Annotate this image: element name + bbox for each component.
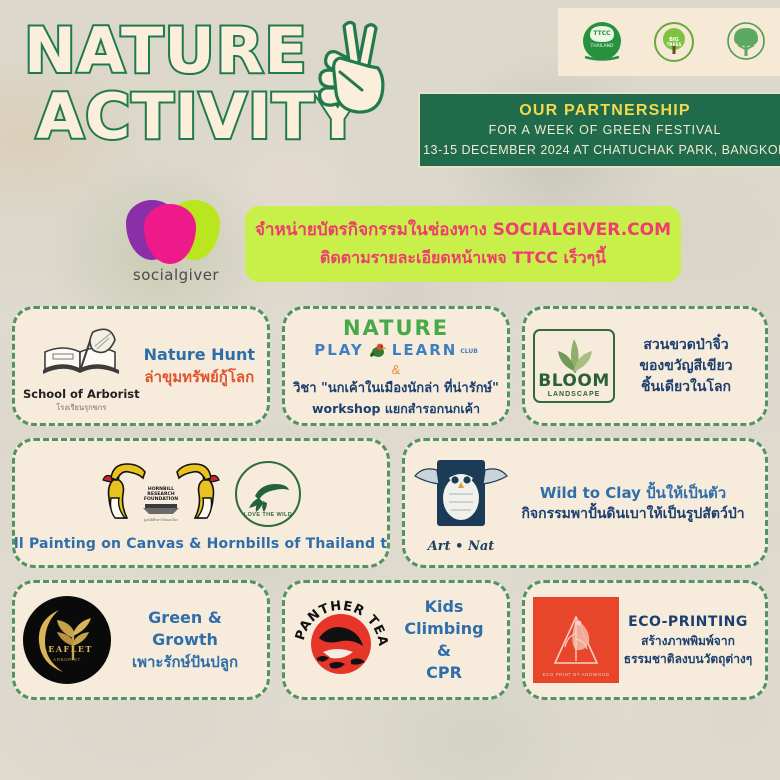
npl-brand-nature: NATURE bbox=[343, 317, 449, 340]
svg-text:TREES: TREES bbox=[667, 42, 682, 47]
partner-logo-strip: TTCC THAILAND BIG TREES bbox=[558, 8, 780, 76]
hornbill-silhouette-icon bbox=[243, 474, 293, 514]
activity-card-bloom-landscape[interactable]: BLOOM LANDSCAPE สวนขวดป่าจิ๋ว ของขวัญสีเ… bbox=[522, 306, 768, 426]
bloom-line-3: ชิ้นเดียวในโลก bbox=[617, 377, 755, 398]
card-row-2: HORNBILL RESEARCH FOUNDATION มูลนิธิศึกษ… bbox=[12, 438, 768, 568]
bloom-wordmark: BLOOM bbox=[538, 371, 610, 391]
socialgiver-wordmark: socialgiver bbox=[112, 266, 240, 284]
green-growth-text: Green & Growth เพาะรักษ์ปันปลูก bbox=[111, 607, 259, 673]
big-trees-logo: BIG TREES bbox=[649, 17, 699, 67]
svg-text:THAILAND: THAILAND bbox=[589, 43, 614, 49]
kids-climbing-line-2: & bbox=[391, 640, 497, 662]
love-the-wild-circle-logo: LOVE THE WILD bbox=[235, 461, 301, 527]
card-row-3: LEAFLET ARBORIST Green & Growth เพาะรักษ… bbox=[12, 580, 768, 700]
socialgiver-marks bbox=[112, 196, 240, 264]
activity-card-eco-printing[interactable]: ECO PRINT BY ANOWOOD ECO-PRINTING สร้างภ… bbox=[522, 580, 768, 700]
activity-card-grid: School of Arborist โรงเรียนรุกขกร Nature… bbox=[12, 306, 768, 768]
socialgiver-logo: socialgiver bbox=[112, 196, 240, 292]
poster-root: NATURE ACTIVITY TTCC THAILAND bbox=[0, 0, 780, 780]
kids-climbing-text: Kids Climbing & CPR bbox=[389, 596, 499, 684]
arborist-caption: School of Arborist bbox=[23, 387, 140, 401]
eco-print-emblem-icon bbox=[545, 609, 607, 671]
ticket-line-2: ติดตามรายละเอียดหน้าเพจ TTCC เร็วๆนี้ bbox=[320, 244, 606, 271]
activity-card-green-and-growth[interactable]: LEAFLET ARBORIST Green & Growth เพาะรักษ… bbox=[12, 580, 270, 700]
green-growth-title-th: เพาะรักษ์ปันปลูก bbox=[113, 651, 257, 673]
bird-icon bbox=[367, 342, 389, 360]
npl-brand-play-learn: PLAY LEARN CLUB bbox=[314, 342, 478, 360]
headline-line-1: NATURE bbox=[24, 14, 308, 87]
npl-ampersand: & bbox=[392, 362, 401, 377]
eco-printing-line-2: ธรรมชาติลงบนวัตถุต่างๆ bbox=[621, 650, 755, 668]
eco-printing-line-1: สร้างภาพพิมพ์จาก bbox=[621, 632, 755, 650]
activity-card-wild-to-clay[interactable]: Art • Nat Wild to Clay ปั้นให้เป็นตัว กิ… bbox=[402, 438, 768, 568]
bloom-text: สวนขวดป่าจิ๋ว ของขวัญสีเขียว ชิ้นเดียวใน… bbox=[615, 335, 757, 398]
kids-climbing-line-3: CPR bbox=[391, 662, 497, 684]
eco-print-by-anowood-logo: ECO PRINT BY ANOWOOD bbox=[533, 597, 619, 683]
art-nat-wordmark: Art • Nat bbox=[428, 539, 495, 554]
npl-club: CLUB bbox=[460, 343, 477, 360]
art-nat-owl-logo: Art • Nat bbox=[413, 452, 509, 554]
kids-climbing-line-1: Kids Climbing bbox=[391, 596, 497, 640]
svg-text:มูลนิธิศึกษาวิจัยนกเงือก: มูลนิธิศึกษาวิจัยนกเงือก bbox=[144, 517, 178, 522]
npl-line-2: workshop แยกสำรอกนกเค้า bbox=[312, 400, 480, 418]
wild-to-clay-text: Wild to Clay ปั้นให้เป็นตัว กิจกรรมพาปั้… bbox=[509, 482, 757, 525]
nature-hunt-title-th: ล่าขุมทรัพย์กู้โลก bbox=[142, 366, 257, 388]
ttcc-logo: TTCC THAILAND bbox=[577, 17, 627, 67]
leaflet-wordmark: LEAFLET bbox=[41, 644, 93, 654]
ticket-banner: จำหน่ายบัตรกิจกรรมในช่องทาง SOCIALGIVER.… bbox=[245, 206, 681, 282]
hornbill-logo-group: HORNBILL RESEARCH FOUNDATION มูลนิธิศึกษ… bbox=[101, 456, 301, 532]
love-the-wild-caption: LOVE THE WILD bbox=[244, 512, 292, 518]
nature-hunt-text: Nature Hunt ล่าขุมทรัพย์กู้โลก bbox=[140, 344, 259, 388]
eco-print-caption: ECO PRINT BY ANOWOOD bbox=[543, 672, 610, 677]
npl-learn: LEARN bbox=[392, 342, 458, 359]
tree-crescent-icon bbox=[29, 602, 105, 678]
eco-print-square: ECO PRINT BY ANOWOOD bbox=[533, 597, 619, 683]
activity-card-nature-play-learn[interactable]: NATURE PLAY LEARN CLUB & วิชา "นกเค้าในเ… bbox=[282, 306, 510, 426]
eco-printing-title: ECO-PRINTING bbox=[621, 612, 755, 632]
nature-hunt-title-en: Nature Hunt bbox=[142, 344, 257, 366]
bloom-line-1: สวนขวดป่าจิ๋ว bbox=[617, 335, 755, 356]
peace-hand-icon bbox=[296, 14, 406, 124]
wild-to-clay-title: Wild to Clay ปั้นให้เป็นตัว bbox=[511, 482, 755, 504]
activity-card-hornbill-painting[interactable]: HORNBILL RESEARCH FOUNDATION มูลนิธิศึกษ… bbox=[12, 438, 390, 568]
activity-card-nature-hunt[interactable]: School of Arborist โรงเรียนรุกขกร Nature… bbox=[12, 306, 270, 426]
ticket-line-1: จำหน่ายบัตรกิจกรรมในช่องทาง SOCIALGIVER.… bbox=[255, 217, 671, 244]
svg-text:TTCC: TTCC bbox=[593, 30, 611, 37]
tree-circle-logo bbox=[721, 17, 771, 67]
green-growth-title-en: Green & Growth bbox=[113, 607, 257, 651]
partnership-title: OUR PARTNERSHIP bbox=[420, 101, 780, 120]
partnership-panel: OUR PARTNERSHIP FOR A WEEK OF GREEN FEST… bbox=[418, 92, 780, 168]
card-row-1: School of Arborist โรงเรียนรุกขกร Nature… bbox=[12, 306, 768, 426]
leaf-icon bbox=[546, 335, 602, 375]
leaflet-subtitle: ARBORIST bbox=[53, 657, 81, 662]
wild-to-clay-subtitle: กิจกรรมพาปั้นดินเบาให้เป็นรูปสัตว์ป่า bbox=[511, 504, 755, 525]
panther-icon: PANTHER TEAM bbox=[293, 594, 389, 686]
eco-printing-text: ECO-PRINTING สร้างภาพพิมพ์จาก ธรรมชาติลง… bbox=[619, 612, 757, 668]
owl-icon bbox=[413, 452, 509, 538]
svg-text:FOUNDATION: FOUNDATION bbox=[144, 496, 178, 502]
partnership-subtitle: FOR A WEEK OF GREEN FESTIVAL bbox=[420, 120, 780, 141]
bloom-landscape-logo: BLOOM LANDSCAPE bbox=[533, 329, 615, 403]
hornbill-caption: Hornbill Painting on Canvas & Hornbills … bbox=[12, 536, 390, 552]
panther-team-logo: PANTHER TEAM bbox=[293, 594, 389, 686]
leaflet-logo: LEAFLET ARBORIST bbox=[23, 596, 111, 684]
activity-card-kids-climbing-cpr[interactable]: PANTHER TEAM Kids Climbing & CPR bbox=[282, 580, 510, 700]
leaflet-circle: LEAFLET ARBORIST bbox=[23, 596, 111, 684]
hornbill-research-foundation-logo: HORNBILL RESEARCH FOUNDATION มูลนิธิศึกษ… bbox=[101, 456, 221, 532]
bloom-subtitle: LANDSCAPE bbox=[548, 391, 601, 398]
npl-play: PLAY bbox=[314, 342, 364, 359]
npl-line-1: วิชา "นกเค้าในเมืองนักล่า ที่น่ารักษ์" bbox=[293, 379, 499, 398]
arborist-caption-th: โรงเรียนรุกขกร bbox=[56, 402, 106, 414]
school-of-arborist-logo: School of Arborist โรงเรียนรุกขกร bbox=[23, 318, 140, 414]
bloom-line-2: ของขวัญสีเขียว bbox=[617, 356, 755, 377]
bloom-logo-frame: BLOOM LANDSCAPE bbox=[533, 329, 615, 403]
partnership-details: 13-15 DECEMBER 2024 AT CHATUCHAK PARK, B… bbox=[420, 141, 780, 160]
